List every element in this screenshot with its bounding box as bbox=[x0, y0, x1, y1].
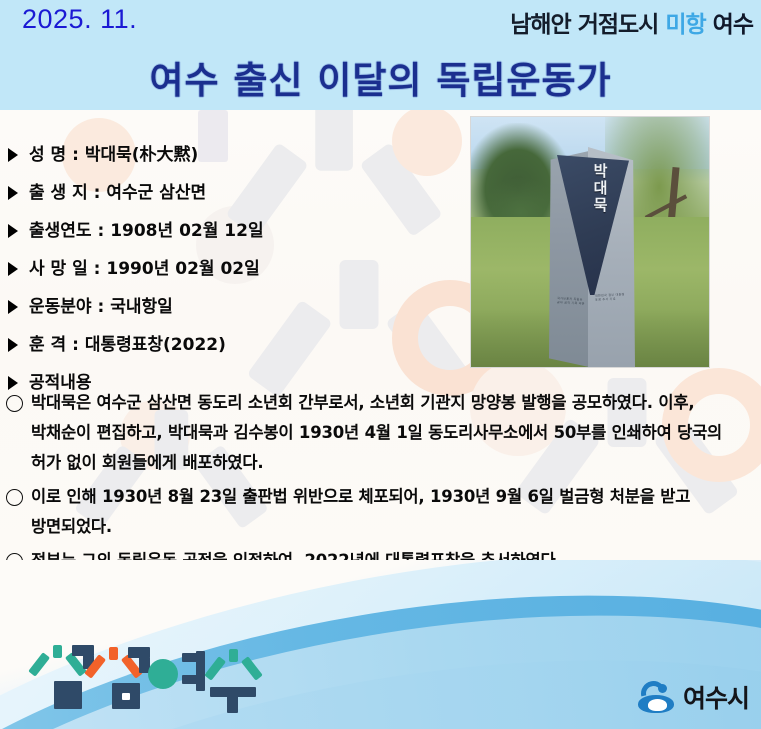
logo-bar-navy bbox=[196, 651, 205, 691]
logo-square-inner bbox=[122, 693, 130, 700]
paragraph-text: 박대묵은 여수군 삼산면 동도리 소년회 간부로서, 소년회 기관지 망양봉 발… bbox=[31, 388, 754, 478]
city-name-label: 여수시 bbox=[683, 679, 749, 715]
logo-circle-teal bbox=[148, 659, 178, 689]
header-banner: 2025. 11. 남해안 거점도시 미항 여수 여수 출신 이달의 독립운동가 bbox=[0, 0, 761, 110]
monument-photo: 박대묵 국가보훈처 독립유공자 공적 기록 비문 대한민국 정부 대통령표창 추… bbox=[470, 116, 710, 368]
info-row: 출생연도 : 1908년 02월 12일 bbox=[8, 212, 458, 250]
logo-y-teal bbox=[212, 649, 254, 683]
paragraph-item: 박대묵은 여수군 삼산면 동도리 소년회 간부로서, 소년회 기관지 망양봉 발… bbox=[6, 388, 754, 478]
monument-inscription-left: 국가보훈처 독립유공자 공적 기록 비문 bbox=[557, 296, 585, 305]
achievement-paragraphs: 박대묵은 여수군 삼산면 동도리 소년회 간부로서, 소년회 기관지 망양봉 발… bbox=[6, 388, 754, 580]
slogan-part-2: 거점도시 bbox=[578, 5, 659, 39]
slogan-part-3: 미항 bbox=[665, 5, 705, 39]
paragraph-text: 이로 인해 1930년 8월 23일 출판법 위반으로 체포되어, 1930년 … bbox=[31, 482, 754, 542]
date-label: 2025. 11. bbox=[22, 4, 137, 35]
logo-square-navy bbox=[54, 681, 82, 709]
circle-bullet-icon bbox=[6, 489, 23, 506]
triangle-bullet-icon bbox=[8, 338, 18, 352]
page-title: 여수 출신 이달의 독립운동가 bbox=[0, 50, 761, 104]
logo-bar-navy bbox=[227, 695, 238, 713]
poster-page: 2025. 11. 남해안 거점도시 미항 여수 여수 출신 이달의 독립운동가 bbox=[0, 0, 761, 729]
info-row-label: 성 명 : 박대묵(朴大黙) bbox=[29, 136, 198, 174]
yeosu-city-logo: 여수시 bbox=[636, 679, 749, 715]
circle-bullet-icon bbox=[6, 395, 23, 412]
slogan-part-1: 남해안 bbox=[510, 5, 570, 39]
profile-info-list: 성 명 : 박대묵(朴大黙) 출 생 지 : 여수군 삼산면 출생연도 : 19… bbox=[8, 136, 458, 402]
info-row-label: 출 생 지 : 여수군 삼산면 bbox=[29, 174, 206, 212]
memorial-monument: 박대묵 국가보훈처 독립유공자 공적 기록 비문 대한민국 정부 대통령표창 추… bbox=[549, 145, 635, 367]
monument-engraved-name: 박대묵 bbox=[589, 163, 609, 214]
info-row-label: 출생연도 : 1908년 02월 12일 bbox=[29, 212, 264, 250]
symbol-highlight bbox=[648, 699, 667, 711]
symbol-dot bbox=[658, 684, 667, 693]
city-wave-symbol-icon bbox=[636, 679, 676, 715]
monument-inscription-right: 대한민국 정부 대통령표창 추서 기념 bbox=[595, 292, 627, 302]
info-row: 성 명 : 박대묵(朴大黙) bbox=[8, 136, 458, 174]
brand-slogan: 남해안 거점도시 미항 여수 bbox=[510, 5, 753, 39]
paragraph-item: 이로 인해 1930년 8월 23일 출판법 위반으로 체포되어, 1930년 … bbox=[6, 482, 754, 542]
photo-scene: 박대묵 국가보훈처 독립유공자 공적 기록 비문 대한민국 정부 대통령표창 추… bbox=[471, 117, 709, 367]
triangle-bullet-icon bbox=[8, 148, 18, 162]
info-row: 출 생 지 : 여수군 삼산면 bbox=[8, 174, 458, 212]
info-row-label: 훈 격 : 대통령표창(2022) bbox=[29, 326, 226, 364]
triangle-bullet-icon bbox=[8, 224, 18, 238]
info-row-label: 사 망 일 : 1990년 02월 02일 bbox=[29, 250, 260, 288]
triangle-bullet-icon bbox=[8, 186, 18, 200]
slogan-part-4: 여수 bbox=[713, 5, 753, 39]
info-row: 훈 격 : 대통령표창(2022) bbox=[8, 326, 458, 364]
info-row: 운동분야 : 국내항일 bbox=[8, 288, 458, 326]
triangle-bullet-icon bbox=[8, 300, 18, 314]
info-row-label: 운동분야 : 국내항일 bbox=[29, 288, 173, 326]
info-row: 사 망 일 : 1990년 02월 02일 bbox=[8, 250, 458, 288]
triangle-bullet-icon bbox=[8, 262, 18, 276]
seomseom-yeosu-wordmark bbox=[36, 645, 256, 715]
